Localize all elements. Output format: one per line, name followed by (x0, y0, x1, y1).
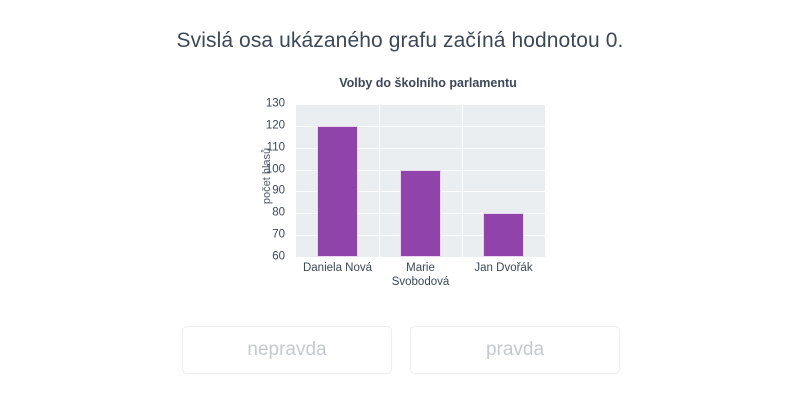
y-tick-label: 60 (272, 251, 285, 263)
x-tick-label: Daniela Nová (296, 261, 379, 275)
x-axis-ticks: Daniela NováMarie SvobodováJan Dvořák (296, 261, 545, 301)
x-tick-label: Jan Dvořák (462, 261, 545, 275)
y-tick-label: 70 (272, 229, 285, 241)
answer-button-pravda[interactable]: pravda (410, 326, 620, 374)
answer-button-nepravda[interactable]: nepravda (182, 326, 392, 374)
bar-chart-figure: Volby do školního parlamentu počet hlasů… (240, 76, 560, 306)
answer-choices: nepravda pravda (182, 326, 620, 374)
y-tick-label: 80 (272, 208, 285, 220)
bars (296, 104, 545, 257)
y-tick-label: 90 (272, 186, 285, 198)
bar (400, 170, 442, 257)
y-tick-label: 100 (266, 164, 285, 176)
x-tick-label: Marie Svobodová (379, 261, 462, 289)
plot-area (296, 104, 545, 257)
y-tick-label: 120 (266, 120, 285, 132)
y-tick-label: 130 (266, 98, 285, 110)
bar (483, 213, 525, 257)
bar (317, 126, 359, 257)
question-prompt: Svislá osa ukázaného grafu začíná hodnot… (0, 29, 800, 53)
y-tick-label: 110 (267, 142, 285, 154)
chart-title: Volby do školního parlamentu (296, 76, 560, 90)
y-axis-ticks: 13012011010090807060 (240, 104, 290, 257)
